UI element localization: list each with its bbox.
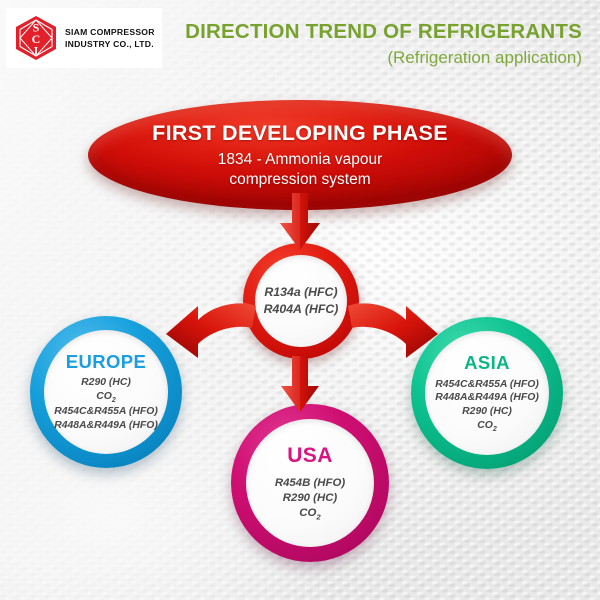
europe-heading: EUROPE	[66, 351, 147, 373]
infographic-canvas: S C I SIAM COMPRESSOR INDUSTRY CO., LTD.…	[0, 0, 600, 600]
phase-subtitle-line2: compression system	[218, 170, 383, 190]
list-item: R454C&R455A (HFO)	[435, 378, 539, 392]
usa-refrigerant-list: R454B (HFO) R290 (HC) CO2	[275, 476, 345, 523]
page-title: DIRECTION TREND OF REFRIGERANTS (Refrige…	[185, 20, 582, 68]
region-circle-europe: EUROPE R290 (HC) CO2 R454C&R455A (HFO) R…	[30, 316, 182, 468]
list-item: CO2	[54, 390, 158, 405]
list-item: R290 (HC)	[435, 405, 539, 419]
phase-subtitle-line1: 1834 - Ammonia vapour	[218, 150, 383, 170]
title-subtitle: (Refrigeration application)	[185, 48, 582, 68]
sci-hexagon-logo-icon: S C I	[14, 15, 58, 61]
company-name-line1: SIAM COMPRESSOR	[65, 26, 155, 38]
title-main: DIRECTION TREND OF REFRIGERANTS	[185, 20, 582, 44]
phase-title: FIRST DEVELOPING PHASE	[152, 121, 448, 146]
europe-refrigerant-list: R290 (HC) CO2 R454C&R455A (HFO) R448A&R4…	[54, 376, 158, 433]
list-item: R448A&R449A (HFO)	[54, 419, 158, 433]
usa-heading: USA	[287, 444, 333, 468]
europe-circle-inner: EUROPE R290 (HC) CO2 R454C&R455A (HFO) R…	[44, 330, 168, 454]
asia-circle-inner: ASIA R454C&R455A (HFO) R448A&R449A (HFO)…	[425, 331, 549, 455]
list-item: CO2	[275, 506, 345, 523]
region-circle-usa: USA R454B (HFO) R290 (HC) CO2	[231, 404, 389, 562]
asia-heading: ASIA	[464, 352, 510, 374]
list-item: R454B (HFO)	[275, 476, 345, 491]
center-item-0: R134a (HFC)	[264, 284, 339, 301]
list-item: R290 (HC)	[54, 376, 158, 390]
center-item-1: R404A (HFC)	[264, 301, 339, 318]
region-circle-asia: ASIA R454C&R455A (HFO) R448A&R449A (HFO)…	[411, 317, 563, 469]
phase-subtitle: 1834 - Ammonia vapour compression system	[218, 150, 383, 189]
center-refrigerant-list: R134a (HFC) R404A (HFC)	[264, 284, 339, 318]
list-item: R290 (HC)	[275, 491, 345, 506]
usa-circle-inner: USA R454B (HFO) R290 (HC) CO2	[246, 419, 374, 547]
center-circle-inner: R134a (HFC) R404A (HFC)	[255, 255, 347, 347]
company-name: SIAM COMPRESSOR INDUSTRY CO., LTD.	[65, 26, 155, 50]
list-item: R448A&R449A (HFO)	[435, 391, 539, 405]
center-refrigerants-circle: R134a (HFC) R404A (HFC)	[243, 243, 359, 359]
first-developing-phase-banner: FIRST DEVELOPING PHASE 1834 - Ammonia va…	[88, 100, 512, 210]
company-name-line2: INDUSTRY CO., LTD.	[65, 38, 155, 50]
company-logo-box: S C I SIAM COMPRESSOR INDUSTRY CO., LTD.	[6, 8, 162, 68]
svg-text:I: I	[34, 44, 39, 58]
asia-refrigerant-list: R454C&R455A (HFO) R448A&R449A (HFO) R290…	[435, 378, 539, 435]
list-item: CO2	[435, 419, 539, 434]
list-item: R454C&R455A (HFO)	[54, 405, 158, 419]
